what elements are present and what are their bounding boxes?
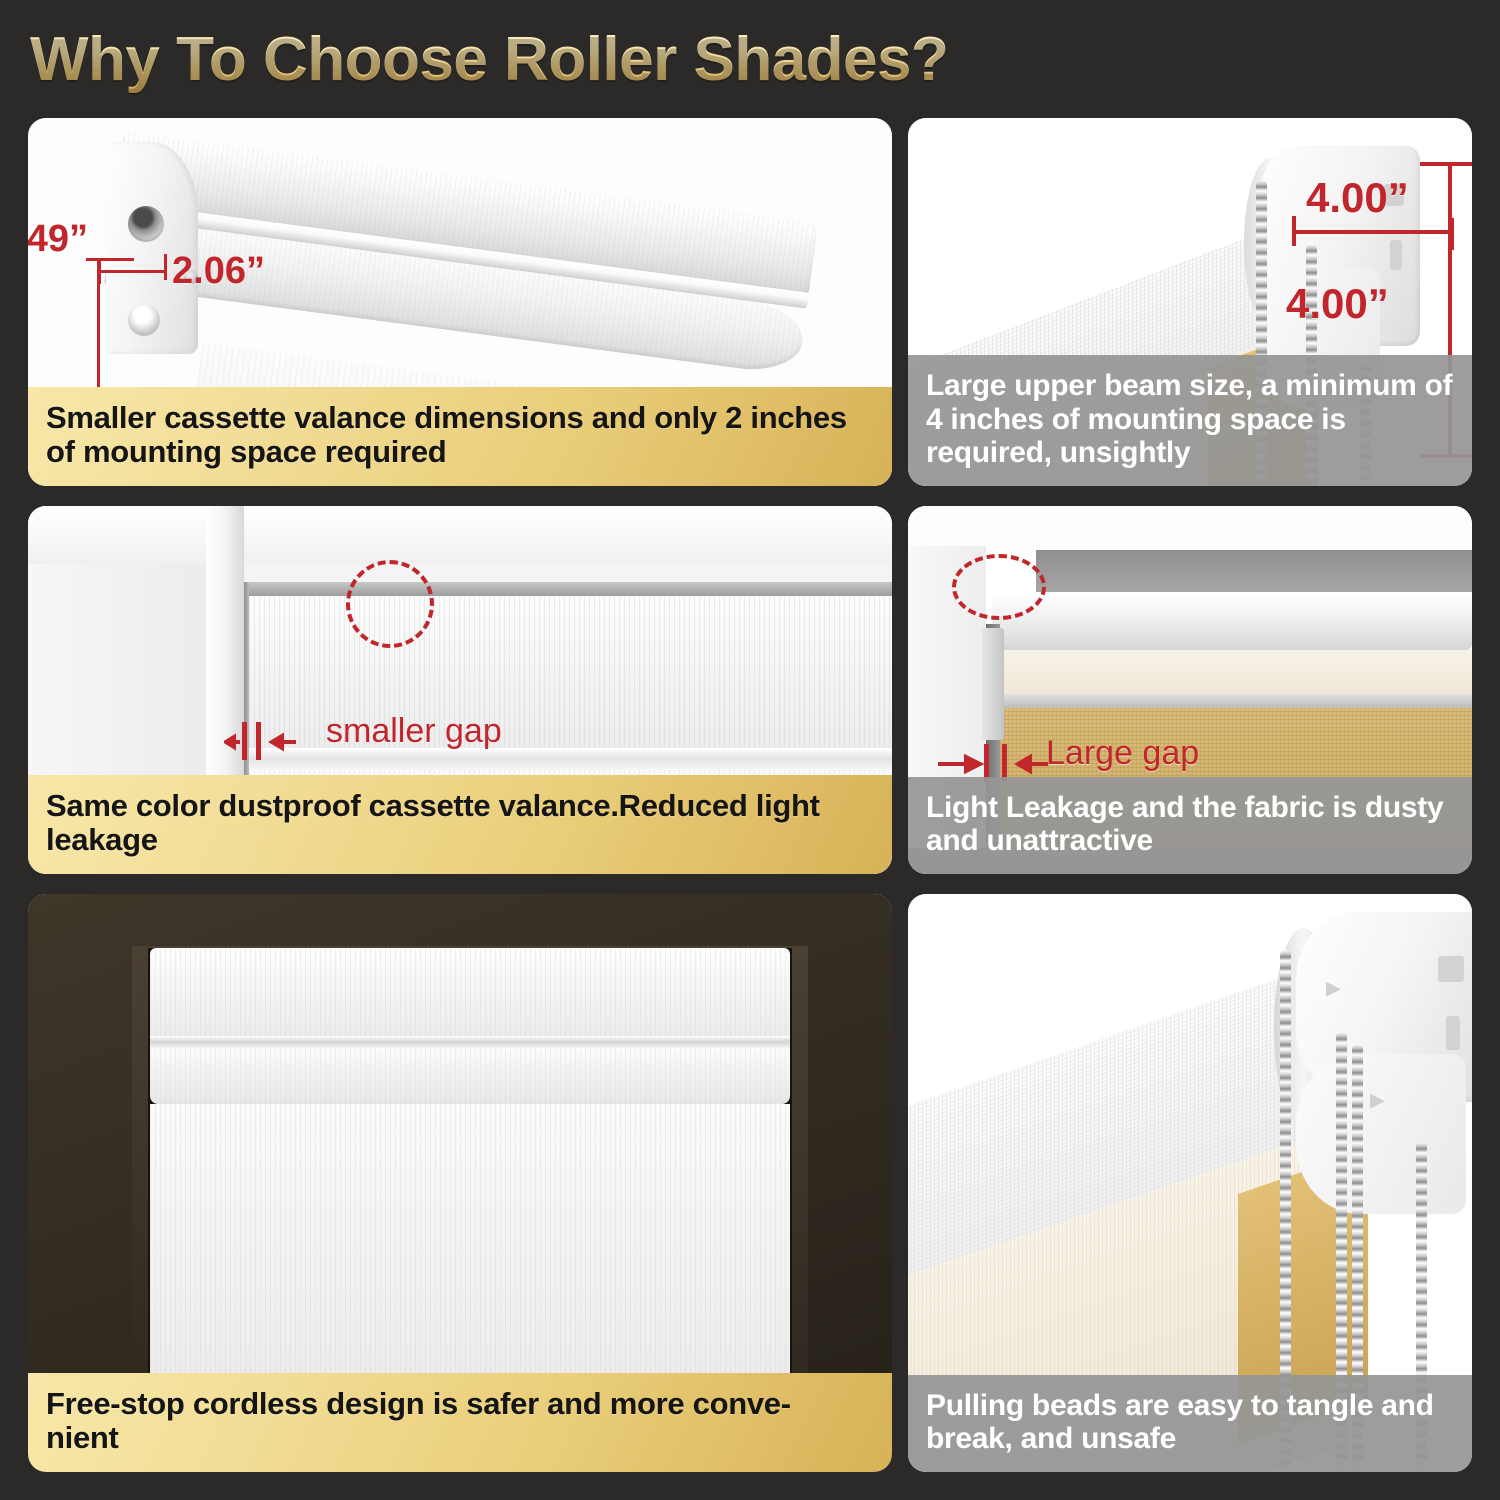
dim-tick-width-right xyxy=(164,254,167,280)
cassette-valance-bottom xyxy=(150,1048,790,1104)
highlight-circle xyxy=(952,554,1046,620)
page-title: Why To Choose Roller Shades? xyxy=(30,22,1230,98)
panel-caption-cordless-design: Free-stop cordless design is safer and m… xyxy=(28,1373,892,1472)
panel-caption-large-upper-beam: Large upper beam size, a minimum of 4 in… xyxy=(908,355,1472,486)
screw-cap-icon xyxy=(128,304,160,336)
panel-light-leakage-dusty-fabric: Large gap Light Leakage and the fabric i… xyxy=(908,506,1472,874)
gap-label: smaller gap xyxy=(326,712,502,751)
dim-label-width: 2.06” xyxy=(172,250,265,293)
dim-label-width: 4.00” xyxy=(1306,174,1409,222)
wall-surface-top xyxy=(908,506,1472,552)
dim-label-height: 4.00” xyxy=(1286,280,1389,328)
valance-head-rail xyxy=(244,582,892,596)
cassette-valance-top xyxy=(150,948,790,1036)
mounting-bracket-lower xyxy=(1296,1054,1466,1214)
ceiling-shadow xyxy=(1036,550,1472,592)
bracket-slot-icon xyxy=(1390,240,1402,270)
bracket-arrow-icon: ▸ xyxy=(1370,1082,1385,1117)
panel-caption-cassette-valance: Smaller cassette valance dimensions and … xyxy=(28,387,892,486)
dim-label-height: 5.49” xyxy=(28,218,88,261)
shade-fabric-edge xyxy=(992,694,1472,708)
shade-fabric-cream xyxy=(992,650,1472,694)
bracket-slot-icon xyxy=(1446,1016,1460,1050)
dim-line-width-horizontal xyxy=(100,270,166,273)
bracket-arrow-icon: ▸ xyxy=(1326,970,1341,1005)
panel-caption-dustproof-valance: Same color dustproof cassette valance.Re… xyxy=(28,775,892,874)
highlight-circle xyxy=(346,560,434,648)
panel-cassette-valance-dimensions: 2.06” 5.49” Smaller cassette valance dim… xyxy=(28,118,892,486)
bracket-clip xyxy=(982,628,1004,740)
gap-label: Large gap xyxy=(1046,734,1199,773)
panel-pulling-beads-tangle: ▸ ▸ Pulling beads are easy to tangle and… xyxy=(908,894,1472,1472)
dim-tick-height-top xyxy=(86,258,134,261)
panel-caption-pulling-beads: Pulling beads are easy to tangle and bre… xyxy=(908,1375,1472,1472)
panel-large-upper-beam: 4.00” 4.00” Large upper beam size, a min… xyxy=(908,118,1472,486)
panel-free-stop-cordless-design: Free-stop cordless design is safer and m… xyxy=(28,894,892,1472)
dim-line-width-horizontal xyxy=(1294,230,1454,234)
dim-tick-height-top xyxy=(1420,162,1472,166)
panel-dustproof-cassette-valance: smaller gap Same color dustproof cassett… xyxy=(28,506,892,874)
roller-tube xyxy=(992,592,1472,650)
bracket-clip-icon xyxy=(128,206,164,242)
cassette-valance-seam xyxy=(150,1036,790,1048)
dim-tick-width-left xyxy=(1292,216,1296,246)
infographic-root: Why To Choose Roller Shades? 2.06” xyxy=(0,0,1500,1500)
panel-caption-light-leakage: Light Leakage and the fabric is dusty an… xyxy=(908,777,1472,874)
bracket-slot-icon xyxy=(1438,956,1464,982)
window-frame-top xyxy=(28,506,892,564)
